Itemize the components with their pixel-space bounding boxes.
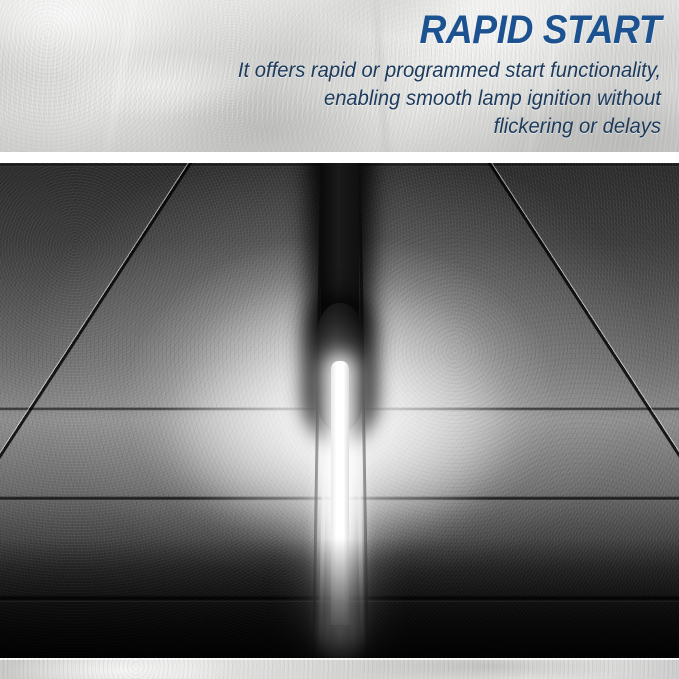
header-photo-divider [0, 152, 679, 163]
product-feature-card: RAPID START It offers rapid or programme… [0, 0, 679, 679]
page-title: RAPID START [69, 10, 661, 51]
photo-bottom-shadow [0, 538, 679, 658]
description-line-3: flickering or delays [62, 113, 661, 141]
header-text-block: RAPID START It offers rapid or programme… [0, 0, 679, 152]
header-banner: RAPID START It offers rapid or programme… [0, 0, 679, 152]
description-line-2: enabling smooth lamp ignition without [62, 85, 661, 113]
footer-grain-overlay [0, 658, 679, 679]
footer-strip [0, 658, 679, 679]
description-line-1: It offers rapid or programmed start func… [62, 57, 661, 85]
feature-description: It offers rapid or programmed start func… [62, 57, 661, 141]
product-photo [0, 163, 679, 658]
